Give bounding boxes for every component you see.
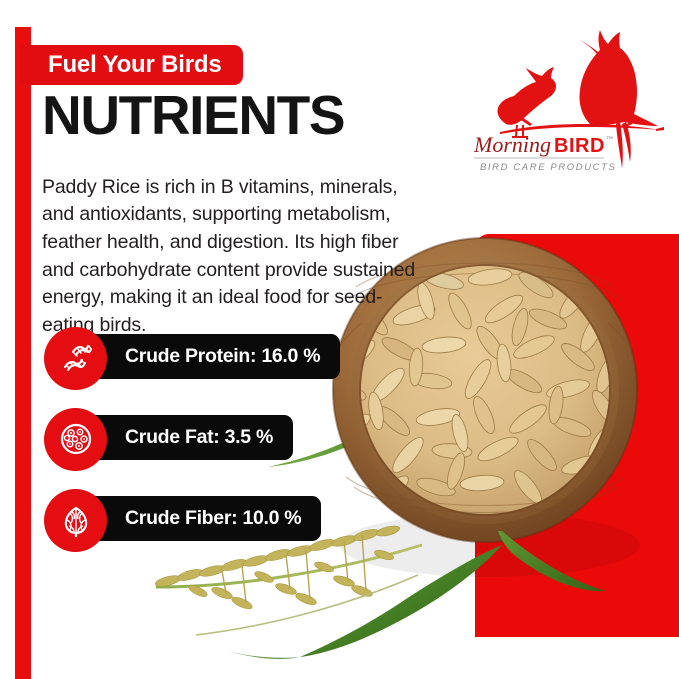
left-red-stripe	[15, 27, 31, 679]
nutrient-label: Crude Fiber: 10.0 %	[125, 507, 301, 530]
nutrient-pill: Crude Fat: 3.5 %	[87, 415, 293, 460]
eyebrow-banner: Fuel Your Birds	[20, 45, 243, 85]
fat-cell-cluster-icon	[44, 408, 107, 471]
nutrient-row: Crude Fiber: 10.0 %	[44, 487, 107, 553]
nutrient-list: Crude Protein: 16.0 %	[44, 325, 107, 568]
grain-head-icon	[44, 489, 107, 552]
nutrient-pill: Crude Protein: 16.0 %	[87, 334, 340, 379]
protein-helix-icon	[44, 327, 107, 390]
page-title: NUTRIENTS	[42, 88, 344, 143]
logo-tagline: BIRD CARE PRODUCTS	[480, 162, 616, 173]
logo-trademark: ™	[606, 136, 613, 143]
logo-script-word: Morning	[473, 132, 551, 157]
brand-logo: Morning BIRD ™ BIRD CARE PRODUCTS	[470, 28, 666, 178]
eyebrow-label: Fuel Your Birds	[48, 51, 221, 79]
nutrient-label: Crude Fat: 3.5 %	[125, 426, 273, 449]
nutrient-pill: Crude Fiber: 10.0 %	[87, 496, 321, 541]
logo-bold-word: BIRD	[554, 135, 605, 157]
nutrients-infographic: Morning BIRD ™ BIRD CARE PRODUCTS Fuel Y…	[0, 0, 679, 679]
description-text: Paddy Rice is rich in B vitamins, minera…	[42, 174, 432, 340]
nutrient-row: Crude Fat: 3.5 %	[44, 406, 107, 472]
nutrient-row: Crude Protein: 16.0 %	[44, 325, 107, 391]
nutrient-label: Crude Protein: 16.0 %	[125, 345, 320, 368]
